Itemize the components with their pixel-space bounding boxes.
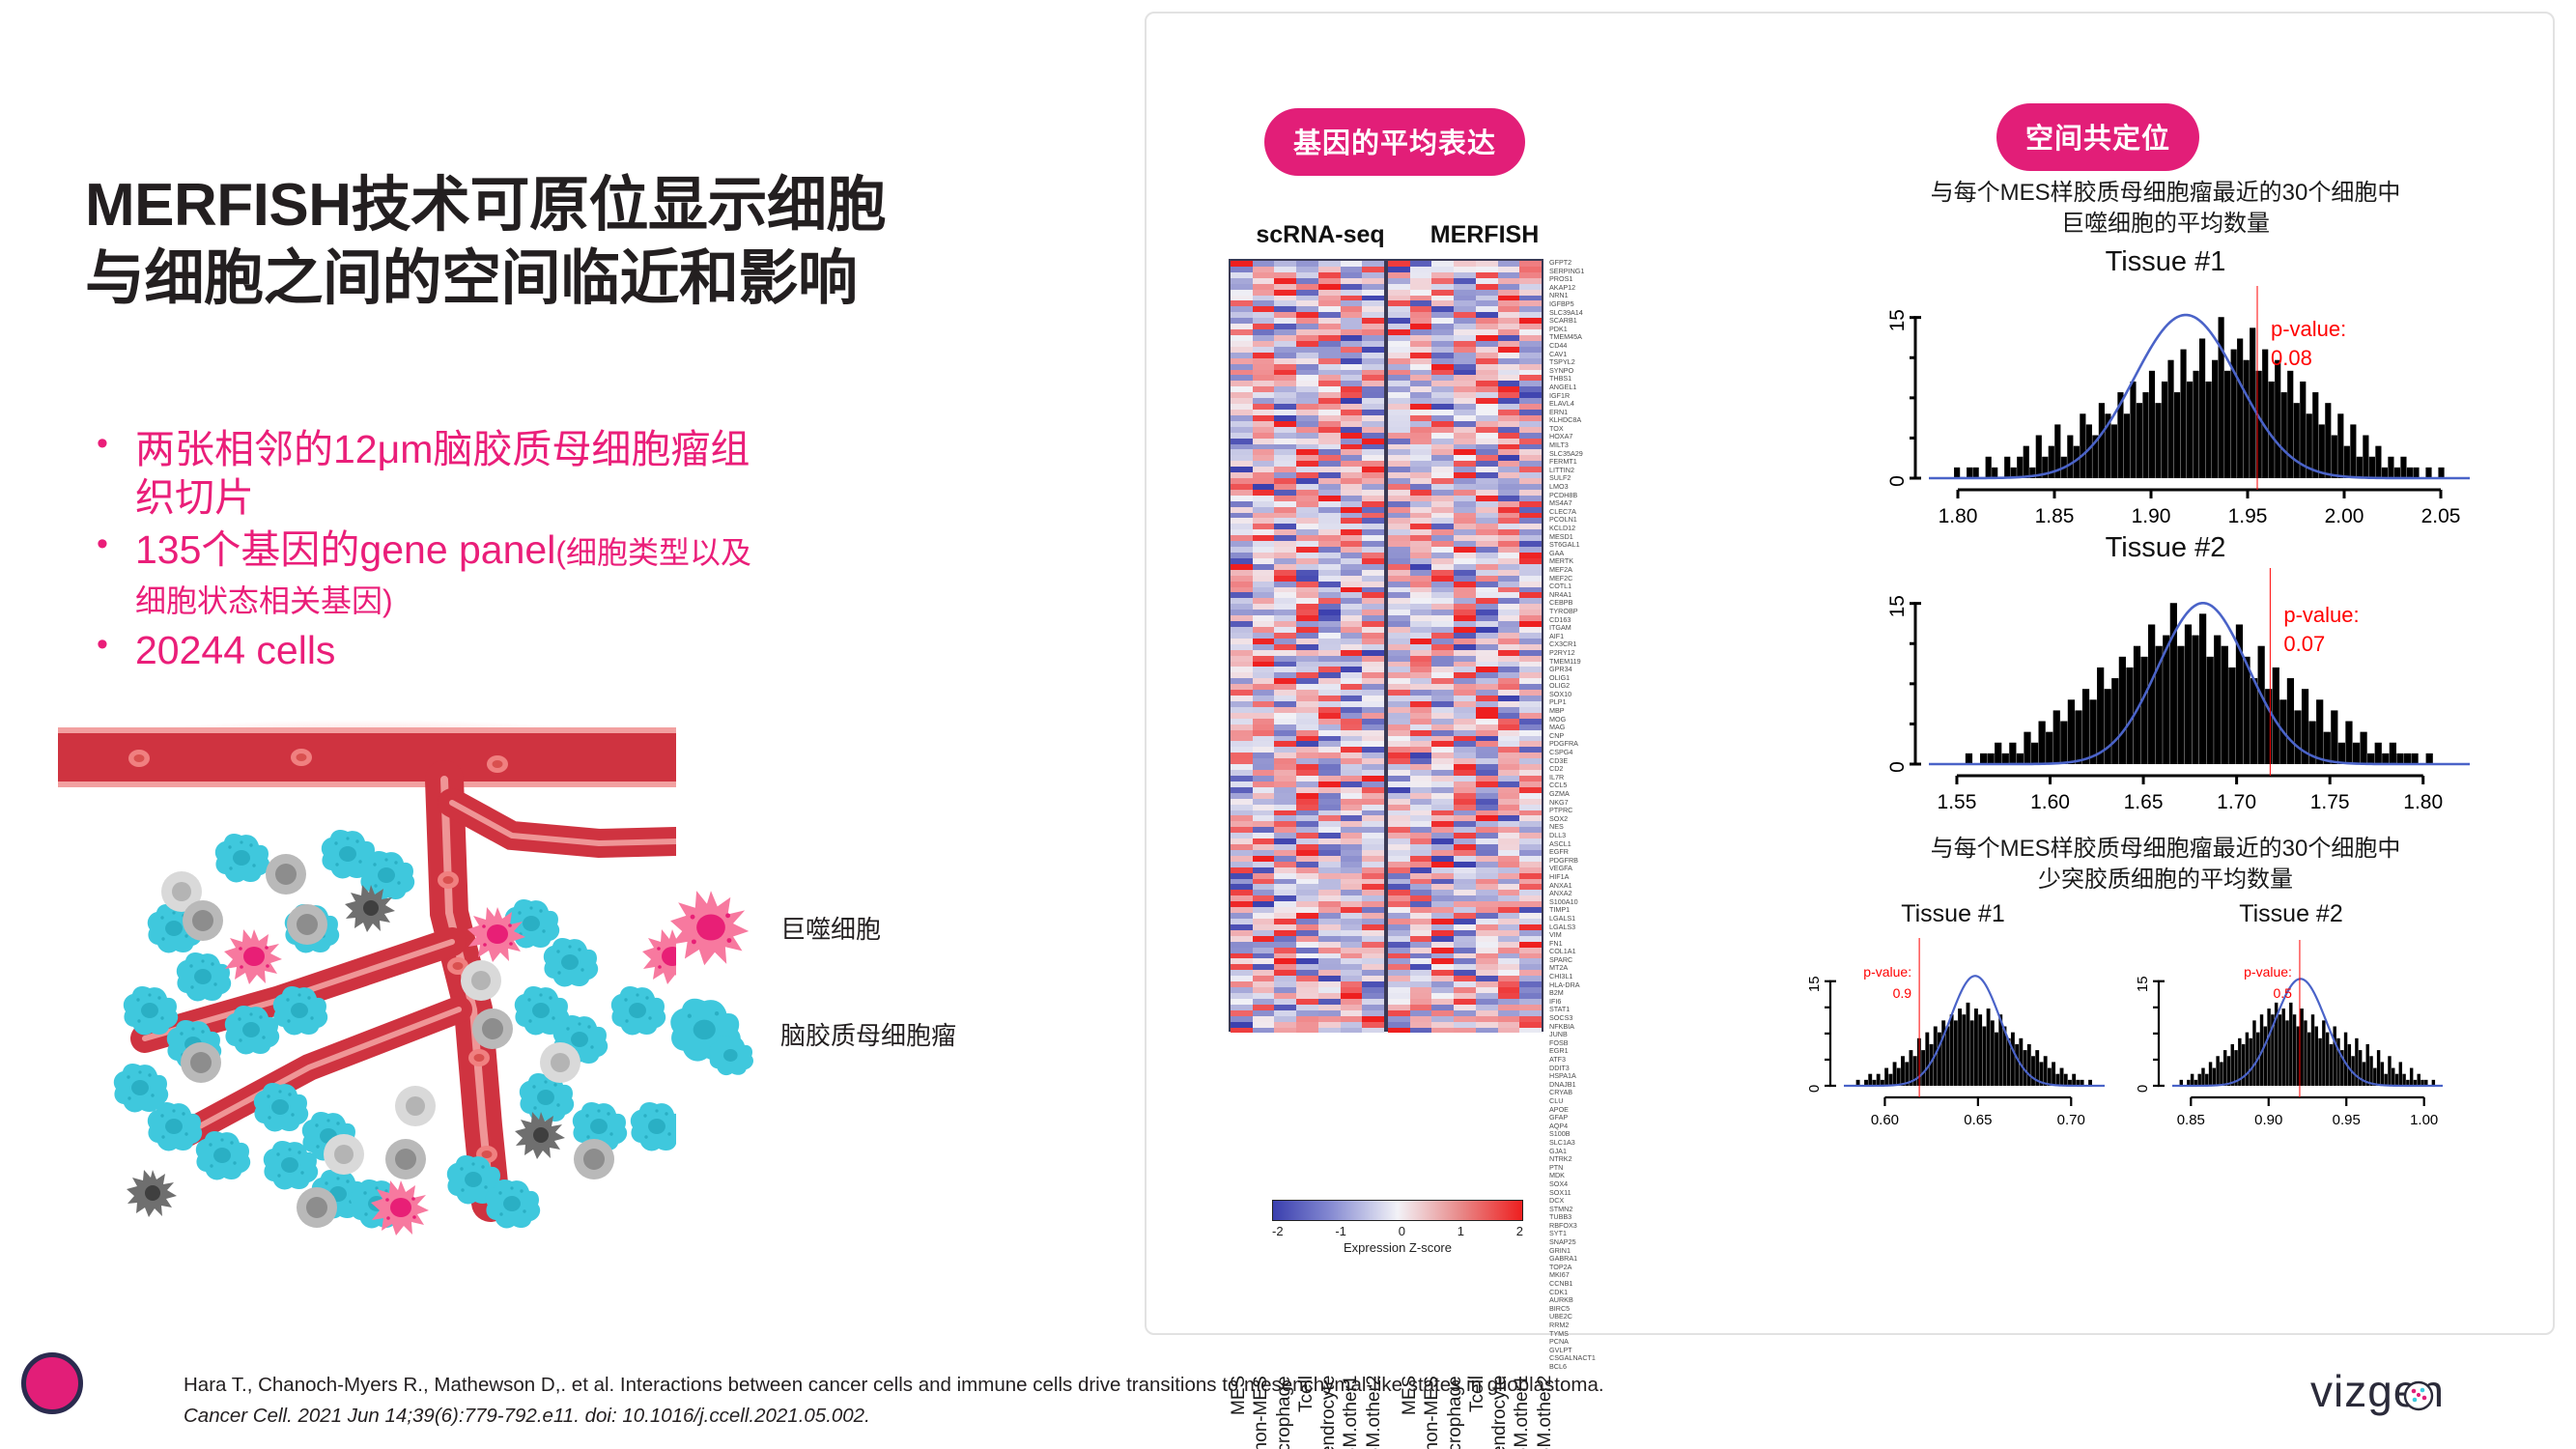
pvalue-label: p-value: bbox=[1863, 964, 1911, 980]
histogram-bar bbox=[1973, 468, 1979, 478]
bullet-text-3: 20244 cells bbox=[135, 626, 335, 674]
caption-macrophage-line1: 与每个MES样胶质母细胞瘤最近的30个细胞中 bbox=[1784, 178, 2547, 209]
histogram-bar bbox=[1967, 468, 1972, 478]
heatmap-cell bbox=[1431, 1028, 1454, 1034]
histogram-bar bbox=[2388, 1056, 2391, 1086]
histogram-bar bbox=[2111, 678, 2118, 764]
histogram-bar bbox=[2031, 743, 2038, 764]
legend-label-macrophage: 巨噬细胞 bbox=[780, 910, 881, 946]
histogram-macrophage-tissue1: Tissue #1 0151.801.851.901.952.002.05p-v… bbox=[1827, 246, 2504, 526]
histogram-bar bbox=[2015, 1044, 2019, 1086]
histogram-bar bbox=[2002, 753, 2009, 764]
histogram-bar bbox=[2140, 657, 2147, 764]
caption-oligo-line2: 少突胶质细胞的平均数量 bbox=[1784, 865, 2547, 895]
x-tick-label: 1.85 bbox=[2035, 505, 2075, 525]
x-tick-label: 0.95 bbox=[2333, 1112, 2361, 1126]
histogram-bar bbox=[2060, 721, 2067, 763]
histogram-bar bbox=[2384, 1073, 2387, 1085]
histogram-bar bbox=[2082, 689, 2089, 764]
histogram-bar bbox=[2353, 743, 2360, 764]
histogram-bar bbox=[2350, 424, 2356, 478]
chart-canvas: 0151.551.601.651.701.751.80p-value:0.07 bbox=[1827, 564, 2504, 810]
histogram-bar bbox=[2396, 753, 2403, 764]
table-row bbox=[1231, 1028, 1384, 1034]
histogram-bar bbox=[2425, 468, 2431, 478]
histogram-bar bbox=[2044, 1056, 2048, 1086]
chart-canvas: 0150.850.900.951.00p-value:0.5 bbox=[2122, 928, 2460, 1126]
x-tick-label: 0.70 bbox=[2057, 1112, 2085, 1126]
brand-dot-icon bbox=[21, 1352, 83, 1414]
histogram-bar bbox=[2220, 1062, 2222, 1086]
heatmap-cell bbox=[1253, 1028, 1275, 1034]
bullet-2-note: (细胞类型以及 bbox=[555, 535, 751, 570]
legend-item-macrophage: 巨噬细胞 bbox=[666, 874, 1072, 980]
x-tick-label: 1.70 bbox=[2217, 791, 2256, 810]
histogram-bar bbox=[1995, 1032, 1998, 1085]
histogram-bar bbox=[1991, 1020, 1995, 1086]
histogram-bar bbox=[2105, 689, 2111, 764]
y-tick-label: 15 bbox=[2135, 976, 2151, 992]
histogram-bar bbox=[2148, 624, 2155, 764]
histogram-bar bbox=[1925, 1032, 1929, 1085]
histogram-bar bbox=[2017, 457, 2023, 478]
x-tick-label: 1.65 bbox=[2124, 791, 2164, 810]
histogram-bar bbox=[2338, 743, 2345, 764]
bullet-1-cont: 织切片 bbox=[135, 475, 254, 520]
x-tick-label: 2.05 bbox=[2421, 505, 2461, 525]
histogram-bar bbox=[2142, 392, 2148, 478]
histogram-bar bbox=[1980, 753, 1987, 764]
histogram-bar bbox=[2407, 468, 2413, 478]
bullet-2-cont: 细胞状态相关基因) bbox=[135, 583, 393, 618]
histogram-bar bbox=[2185, 624, 2192, 764]
histogram-bar bbox=[2191, 1073, 2194, 1085]
histogram-bar bbox=[2252, 1020, 2255, 1086]
colorbar-title: Expression Z-score bbox=[1272, 1240, 1523, 1255]
macrophage-icon bbox=[666, 883, 755, 972]
bullet-2-main: 135个基因的gene panel bbox=[135, 527, 555, 572]
y-tick-label: 15 bbox=[1806, 976, 1823, 992]
heatmap-cell bbox=[1498, 1028, 1520, 1034]
histogram-bar bbox=[2287, 371, 2293, 478]
histogram-bar bbox=[2326, 1032, 2329, 1085]
x-tick-label: 0.85 bbox=[2177, 1112, 2205, 1126]
histogram-bar bbox=[2219, 317, 2224, 478]
histogram-bar bbox=[2325, 403, 2331, 478]
histogram-bar bbox=[2281, 392, 2287, 478]
list-item: • 两张相邻的12μm脑胶质母细胞瘤组 织切片 bbox=[83, 425, 1068, 522]
histogram-bar bbox=[2312, 392, 2318, 478]
gene-name-labels: GFPT2SERPING1PROS1AKAP12NRN1IGFBP5SLC39A… bbox=[1549, 259, 1632, 1372]
histogram-bar bbox=[2039, 721, 2046, 763]
histogram-bar bbox=[2111, 424, 2117, 478]
pvalue-label: p-value: bbox=[2283, 603, 2359, 627]
histogram-bar bbox=[2262, 349, 2268, 477]
histogram-bar bbox=[2289, 1002, 2292, 1085]
histogram-bar bbox=[2213, 1067, 2216, 1085]
histogram-bar bbox=[2399, 1062, 2402, 1086]
histogram-bar bbox=[2269, 382, 2275, 478]
histogram-bar bbox=[2282, 1009, 2285, 1086]
histogram-bar bbox=[2345, 721, 2352, 763]
x-tick-label: 1.90 bbox=[2132, 505, 2171, 525]
y-tick-label: 0 bbox=[1806, 1084, 1823, 1092]
y-tick-label: 0 bbox=[1886, 475, 1909, 487]
histogram-bar bbox=[2438, 468, 2444, 478]
histogram-bar bbox=[2369, 1056, 2372, 1086]
histogram-bar bbox=[1884, 1067, 1888, 1085]
slide-root: MERFISH技术可原位显示细胞 与细胞之间的空间临近和影响 • 两张相邻的12… bbox=[0, 0, 2576, 1449]
histogram-bar bbox=[2119, 657, 2126, 764]
pvalue-label: p-value: bbox=[2244, 964, 2292, 980]
histogram-bar bbox=[2285, 1020, 2288, 1086]
histogram-bar bbox=[2036, 435, 2042, 477]
y-axis bbox=[2159, 980, 2165, 1085]
histogram-bar bbox=[2209, 1062, 2212, 1086]
histogram-bar bbox=[2031, 1056, 2035, 1086]
figure-panel: 基因的平均表达 空间共定位 scRNA-seq MERFISH GFPT2SER… bbox=[1145, 12, 2555, 1335]
histogram-bar bbox=[2167, 359, 2173, 477]
pvalue-label: p-value: bbox=[2271, 317, 2346, 341]
histogram-bar bbox=[2344, 1032, 2347, 1085]
histogram-oligo-tissue2: Tissue #2 0150.850.900.951.00p-value:0.5 bbox=[2122, 900, 2460, 1127]
histogram-bar bbox=[2413, 468, 2419, 478]
y-tick-label: 0 bbox=[2135, 1084, 2151, 1092]
histogram-bar bbox=[1982, 1026, 1986, 1086]
caption-macrophage: 与每个MES样胶质母细胞瘤最近的30个细胞中 巨噬细胞的平均数量 bbox=[1784, 178, 2547, 241]
histogram-bar bbox=[2130, 382, 2136, 478]
histogram-bar bbox=[2390, 743, 2396, 764]
histogram-bar bbox=[2344, 445, 2350, 477]
x-tick-label: 1.00 bbox=[2410, 1112, 2438, 1126]
histogram-bar bbox=[1877, 1073, 1881, 1085]
chart-title: Tissue #1 bbox=[1827, 246, 2504, 278]
chart-canvas: 0151.801.851.901.952.002.05p-value:0.08 bbox=[1827, 278, 2504, 525]
small-histograms: Tissue #1 0150.600.650.70p-value:0.9 Tis… bbox=[1784, 900, 2547, 1127]
heatmap-cell bbox=[1454, 1028, 1476, 1034]
histogram-bar bbox=[2300, 1009, 2303, 1086]
histogram-bar bbox=[2124, 413, 2130, 478]
colorbar-tick: 1 bbox=[1458, 1224, 1464, 1238]
blood-vessel-horizontal bbox=[58, 727, 676, 787]
x-tick-label: 1.80 bbox=[1939, 505, 1978, 525]
histogram-bar bbox=[2357, 457, 2363, 478]
histogram-bar bbox=[2322, 1020, 2325, 1086]
histogram-bar bbox=[2355, 1037, 2358, 1085]
histogram-bar bbox=[2366, 1044, 2369, 1086]
caption-oligodendrocyte: 与每个MES样胶质母细胞瘤最近的30个细胞中 少突胶质细胞的平均数量 bbox=[1784, 834, 2547, 896]
histogram-bar bbox=[2264, 1026, 2267, 1086]
gene-label: B2M bbox=[1549, 989, 1632, 998]
histogram-bar bbox=[2394, 468, 2400, 478]
histogram-bar bbox=[2193, 371, 2198, 478]
histogram-bar bbox=[2316, 699, 2323, 764]
histogram-bar bbox=[2199, 613, 2206, 764]
histogram-bar bbox=[2180, 349, 2186, 477]
histogram-bar bbox=[2231, 1044, 2234, 1086]
glioblastoma-icon bbox=[666, 989, 755, 1078]
histogram-bar bbox=[2046, 731, 2052, 763]
page-title: MERFISH技术可原位显示细胞 与细胞之间的空间临近和影响 bbox=[85, 169, 1109, 315]
histogram-bar bbox=[2367, 753, 2374, 764]
title-line-2: 与细胞之间的空间临近和影响 bbox=[85, 242, 1109, 316]
histogram-bar bbox=[1974, 1009, 1978, 1086]
heatmap-cell bbox=[1519, 1028, 1542, 1034]
histogram-bar bbox=[1893, 1062, 1897, 1086]
pvalue-value: 0.07 bbox=[2283, 632, 2325, 656]
x-tick-label: 1.80 bbox=[2403, 791, 2443, 810]
histogram-bar bbox=[2381, 1062, 2384, 1086]
histogram-bar bbox=[1966, 753, 1972, 764]
colorbar-tick: -2 bbox=[1272, 1224, 1284, 1238]
histogram-bar bbox=[2382, 468, 2388, 478]
heatmap-headers: scRNA-seq MERFISH bbox=[1238, 221, 1567, 249]
chart-title: Tissue #1 bbox=[1784, 900, 2122, 928]
histogram-bar bbox=[2426, 753, 2433, 764]
list-item: • 20244 cells bbox=[83, 626, 1068, 674]
histogram-bar bbox=[1970, 1020, 1974, 1086]
histogram-bar bbox=[2395, 1073, 2398, 1085]
histogram-bar bbox=[2246, 1032, 2249, 1085]
bullet-1-main: 两张相邻的12μm脑胶质母细胞瘤组 bbox=[135, 427, 750, 471]
histogram-bar bbox=[2055, 1073, 2059, 1085]
x-tick-label: 0.90 bbox=[2254, 1112, 2282, 1126]
histogram-bar bbox=[2369, 457, 2375, 478]
chart-title: Tissue #2 bbox=[1827, 532, 2504, 564]
caption-oligo-line1: 与每个MES样胶质母细胞瘤最近的30个细胞中 bbox=[1784, 834, 2547, 865]
histogram-bar bbox=[2072, 1073, 2076, 1085]
histogram-bar bbox=[2382, 753, 2389, 764]
histogram-bar bbox=[2222, 645, 2228, 763]
histogram-bar bbox=[2206, 382, 2212, 478]
histogram-bar bbox=[2410, 1067, 2413, 1085]
heatmap-cell bbox=[1476, 1028, 1498, 1034]
heatmap-merfish bbox=[1386, 259, 1543, 1032]
histogram-bar bbox=[1945, 1026, 1949, 1086]
table-row bbox=[1388, 1028, 1542, 1034]
histogram-bar bbox=[2009, 743, 2016, 764]
histogram-bar bbox=[2216, 1056, 2219, 1086]
badge-colocalization: 空间共定位 bbox=[1996, 103, 2199, 171]
histogram-bar bbox=[2199, 338, 2205, 478]
heatmap-figure: scRNA-seq MERFISH GFPT2SERPING1PROS1AKAP… bbox=[1229, 221, 1634, 1449]
histogram-bar bbox=[1950, 1014, 1954, 1086]
histogram-bar bbox=[2293, 1014, 2296, 1086]
histogram-bar bbox=[2080, 413, 2085, 478]
histogram-bar bbox=[2052, 1062, 2055, 1086]
histogram-bar bbox=[2337, 413, 2343, 478]
histogram-bar bbox=[2411, 753, 2418, 764]
histogram-bar bbox=[1995, 743, 2001, 764]
x-tick-label: 1.75 bbox=[2310, 791, 2350, 810]
histogram-bar bbox=[2243, 657, 2250, 764]
histogram-bar bbox=[2214, 635, 2221, 763]
histogram-bar bbox=[2332, 435, 2337, 477]
histogram-macrophage-tissue2: Tissue #2 0151.551.601.651.701.751.80p-v… bbox=[1827, 532, 2504, 812]
histogram-bar bbox=[2237, 338, 2243, 478]
histogram-bar bbox=[2228, 668, 2235, 764]
histogram-bar bbox=[1986, 457, 1992, 478]
histogram-bar bbox=[1958, 1009, 1962, 1086]
tumor-microenvironment-illustration bbox=[58, 720, 676, 1280]
bullet-marker-icon: • bbox=[83, 626, 135, 664]
histogram-bar bbox=[2162, 382, 2167, 478]
histogram-bar bbox=[2060, 1067, 2064, 1085]
histogram-bar bbox=[1967, 1002, 1970, 1085]
heatmap-cell bbox=[1341, 1028, 1363, 1034]
legend-label-glioblastoma: 脑胶质母细胞瘤 bbox=[780, 1016, 956, 1052]
colorbar-tick: -1 bbox=[1335, 1224, 1346, 1238]
histogram-bar bbox=[2294, 403, 2300, 478]
histogram-bar bbox=[2192, 635, 2198, 763]
histogram-bar bbox=[2155, 403, 2161, 478]
histogram-bar bbox=[2027, 1044, 2031, 1086]
histogram-bar bbox=[2068, 699, 2075, 764]
x-tick-label: 0.60 bbox=[1871, 1112, 1899, 1126]
histogram-bar bbox=[2170, 603, 2177, 764]
histogram-bar bbox=[2177, 645, 2184, 763]
colorbar-ticks: -2 -1 0 1 2 bbox=[1272, 1224, 1523, 1238]
heatmap-cell bbox=[1318, 1028, 1341, 1034]
heatmap-cell bbox=[1388, 1028, 1410, 1034]
histogram-bar bbox=[2244, 359, 2250, 477]
histogram-bar bbox=[2375, 743, 2382, 764]
caption-macrophage-line2: 巨噬细胞的平均数量 bbox=[1784, 209, 2547, 240]
histogram-bar bbox=[2174, 392, 2180, 478]
colorbar-tick: 2 bbox=[1516, 1224, 1523, 1238]
histogram-bar bbox=[2307, 1032, 2310, 1085]
x-tick-label: 1.95 bbox=[2228, 505, 2268, 525]
histogram-bar bbox=[1992, 468, 1997, 478]
histogram-bar bbox=[2319, 424, 2325, 478]
heatmap-cell bbox=[1296, 1028, 1318, 1034]
histogram-bar bbox=[2333, 1026, 2335, 1086]
histogram-bar bbox=[2265, 689, 2272, 764]
histogram-bar bbox=[2064, 1073, 2068, 1085]
histogram-bar bbox=[2004, 457, 2010, 478]
bullet-text-1: 两张相邻的12μm脑胶质母细胞瘤组 织切片 bbox=[135, 425, 750, 522]
citation-line-1: Hara T., Chanoch-Myers R., Mathewson D,.… bbox=[184, 1370, 2019, 1401]
pvalue-value: 0.08 bbox=[2271, 346, 2312, 370]
histogram-bar bbox=[2418, 1073, 2420, 1085]
bullet-list: • 两张相邻的12μm脑胶质母细胞瘤组 织切片 • 135个基因的gene pa… bbox=[83, 425, 1068, 678]
vizgen-logo: vizgen bbox=[2308, 1364, 2531, 1422]
histogram-bar bbox=[1978, 1014, 1982, 1086]
y-axis bbox=[1915, 317, 1921, 477]
citation: Hara T., Chanoch-Myers R., Mathewson D,.… bbox=[184, 1370, 2019, 1432]
histogram-bar bbox=[2207, 657, 2214, 764]
badge-gene-expression: 基因的平均表达 bbox=[1264, 108, 1525, 176]
histogram-bar bbox=[2201, 1067, 2204, 1085]
histogram-bar bbox=[2330, 1044, 2333, 1086]
histogram-bar bbox=[2099, 403, 2105, 478]
histogram-bar bbox=[2137, 403, 2142, 478]
histogram-bar bbox=[2363, 435, 2368, 477]
histogram-bar bbox=[2249, 1037, 2251, 1085]
histogram-bar bbox=[2275, 359, 2280, 477]
histogram-bar bbox=[1987, 1009, 1991, 1086]
heatmap-cell bbox=[1362, 1028, 1384, 1034]
citation-line-2: Cancer Cell. 2021 Jun 14;39(6):779-792.e… bbox=[184, 1401, 2019, 1432]
histogram-bar bbox=[1962, 1014, 1966, 1086]
histogram-bar bbox=[2205, 1073, 2208, 1085]
y-axis bbox=[1830, 980, 1836, 1085]
y-tick-label: 15 bbox=[1886, 309, 1909, 331]
histogram-bar bbox=[2360, 731, 2366, 763]
histogram-bar bbox=[2392, 1067, 2394, 1085]
histogram-bar bbox=[2375, 445, 2381, 477]
bullet-marker-icon: • bbox=[83, 526, 135, 563]
histogram-bar bbox=[2388, 457, 2393, 478]
title-line-1: MERFISH技术可原位显示细胞 bbox=[85, 169, 1109, 242]
colorbar-gradient bbox=[1272, 1200, 1523, 1221]
y-tick-label: 0 bbox=[1886, 761, 1909, 773]
colorbar-legend: -2 -1 0 1 2 Expression Z-score bbox=[1272, 1200, 1523, 1255]
x-tick-label: 1.55 bbox=[1938, 791, 1977, 810]
heatmap-cell bbox=[1231, 1028, 1253, 1034]
histogram-bar bbox=[2227, 1056, 2230, 1086]
histogram-oligo-tissue1: Tissue #1 0150.600.650.70p-value:0.9 bbox=[1784, 900, 2122, 1127]
histogram-bar bbox=[2011, 1032, 2015, 1085]
list-item: • 135个基因的gene panel(细胞类型以及 细胞状态相关基因) bbox=[83, 526, 1068, 622]
histogram-bar bbox=[2242, 1044, 2245, 1086]
histogram-bar bbox=[2318, 1037, 2321, 1085]
histogram-bar bbox=[2402, 1073, 2405, 1085]
histogram-bar bbox=[2258, 645, 2265, 763]
chart-title: Tissue #2 bbox=[2122, 900, 2460, 928]
histogram-bar bbox=[2287, 678, 2294, 764]
heatmap-cell bbox=[1410, 1028, 1432, 1034]
histogram-bar bbox=[2315, 1026, 2318, 1086]
histogram-bar bbox=[2024, 731, 2030, 763]
histogram-bar bbox=[1988, 753, 1995, 764]
histogram-bar bbox=[1897, 1067, 1901, 1085]
histogram-bar bbox=[2331, 710, 2337, 764]
histogram-bar bbox=[2404, 753, 2411, 764]
x-tick-label: 0.65 bbox=[1964, 1112, 1992, 1126]
histogram-bar bbox=[2024, 445, 2029, 477]
histogram-bar bbox=[1901, 1056, 1905, 1086]
histogram-bar bbox=[2250, 678, 2257, 764]
pvalue-value: 0.5 bbox=[2273, 985, 2292, 1001]
legend-item-glioblastoma: 脑胶质母细胞瘤 bbox=[666, 980, 1072, 1087]
histogram-bar bbox=[2311, 1014, 2314, 1086]
histogram-bar bbox=[2149, 371, 2155, 478]
histogram-bar bbox=[2294, 710, 2301, 764]
y-axis bbox=[1915, 603, 1921, 763]
histogram-bar bbox=[2279, 1014, 2281, 1086]
histogram-bar bbox=[2377, 1050, 2380, 1086]
histogram-bar bbox=[2304, 1020, 2307, 1086]
heatmap-scrnaseq bbox=[1229, 259, 1386, 1032]
histogram-bar bbox=[2197, 1073, 2200, 1085]
illustration-legend: 巨噬细胞 脑胶质母细胞瘤 bbox=[666, 874, 1072, 1087]
histogram-bar bbox=[2224, 371, 2230, 478]
left-column: MERFISH技术可原位显示细胞 与细胞之间的空间临近和影响 • 两张相邻的12… bbox=[0, 0, 1145, 1343]
y-tick-label: 15 bbox=[1886, 595, 1909, 617]
histogram-bar bbox=[2187, 382, 2193, 478]
histogram-bar bbox=[1888, 1073, 1892, 1085]
heatmap-cell bbox=[1274, 1028, 1296, 1034]
histogram-bar bbox=[1868, 1073, 1872, 1085]
colorbar-tick: 0 bbox=[1399, 1224, 1405, 1238]
x-tick-label: 2.00 bbox=[2325, 505, 2364, 525]
histogram-bar bbox=[2223, 1050, 2226, 1086]
chart-canvas: 0150.600.650.70p-value:0.9 bbox=[1784, 928, 2122, 1126]
bullet-marker-icon: • bbox=[83, 425, 135, 463]
histogram-bar bbox=[1921, 1050, 1925, 1086]
histogram-bar bbox=[1954, 1020, 1958, 1086]
